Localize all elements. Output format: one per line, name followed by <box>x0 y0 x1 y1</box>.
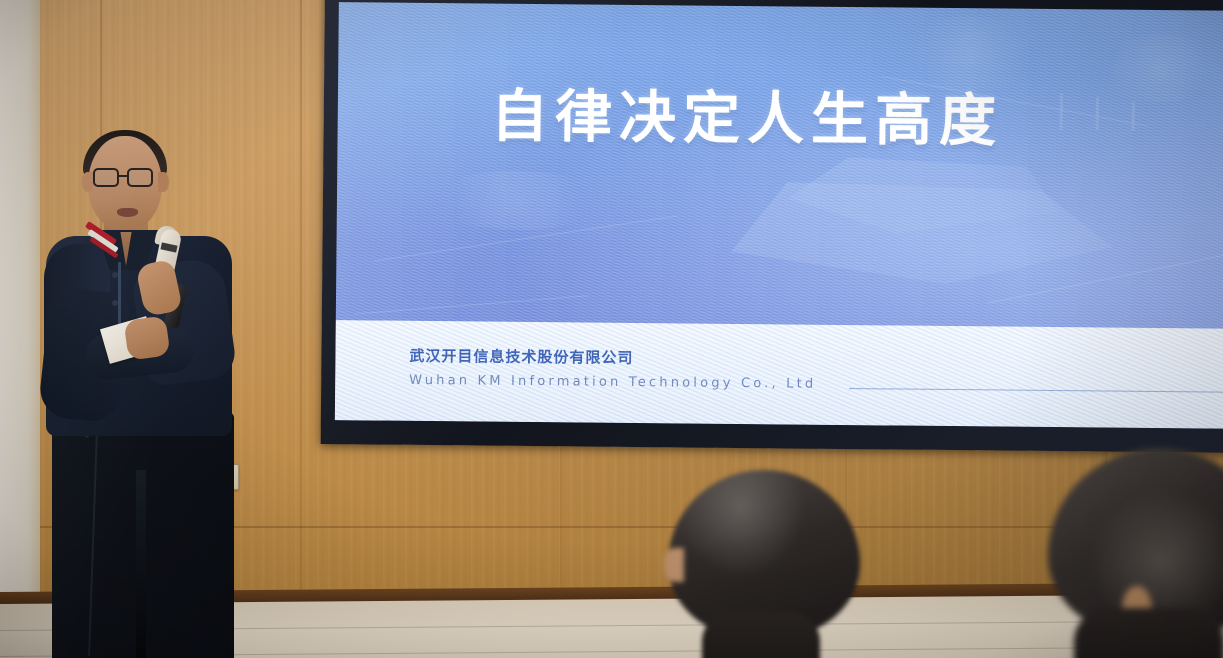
art-line <box>354 295 588 314</box>
shirt-placket <box>118 262 121 324</box>
presenter-left-hand <box>123 315 170 360</box>
trouser-leg-gap <box>136 470 146 658</box>
projection-screen: 自律决定人生高度 武汉开目信息技术股份有限公司 Wuhan KM Informa… <box>321 0 1223 453</box>
art-tower <box>1095 97 1098 130</box>
presenter-left-ear <box>82 172 93 192</box>
neck <box>702 612 820 658</box>
presentation-slide: 自律决定人生高度 武汉开目信息技术股份有限公司 Wuhan KM Informa… <box>335 2 1223 429</box>
shirt-button <box>112 300 118 306</box>
conference-photo-scene: 自律决定人生高度 武汉开目信息技术股份有限公司 Wuhan KM Informa… <box>0 0 1223 658</box>
eyeglasses-bridge <box>118 175 129 177</box>
art-haze <box>1096 34 1223 102</box>
presenter-right-ear <box>158 172 169 192</box>
art-haze <box>427 170 608 230</box>
slide-footer-band: 武汉开目信息技术股份有限公司 Wuhan KM Information Tech… <box>335 320 1223 429</box>
ear <box>664 548 684 582</box>
slide-title: 自律决定人生高度 <box>491 70 1004 157</box>
eyeglasses-right-lens <box>127 168 153 187</box>
footer-company-name-cn: 武汉开目信息技术股份有限公司 <box>409 345 633 368</box>
presenter-mouth <box>117 208 138 217</box>
shirt-button <box>112 272 118 278</box>
eyeglasses-left-lens <box>93 168 119 187</box>
audience-member-right <box>1048 448 1223 658</box>
neck <box>1074 608 1223 658</box>
art-tower <box>1059 93 1062 131</box>
art-tower <box>1131 102 1134 131</box>
presenter <box>0 0 330 658</box>
audience-member-left <box>668 470 860 658</box>
